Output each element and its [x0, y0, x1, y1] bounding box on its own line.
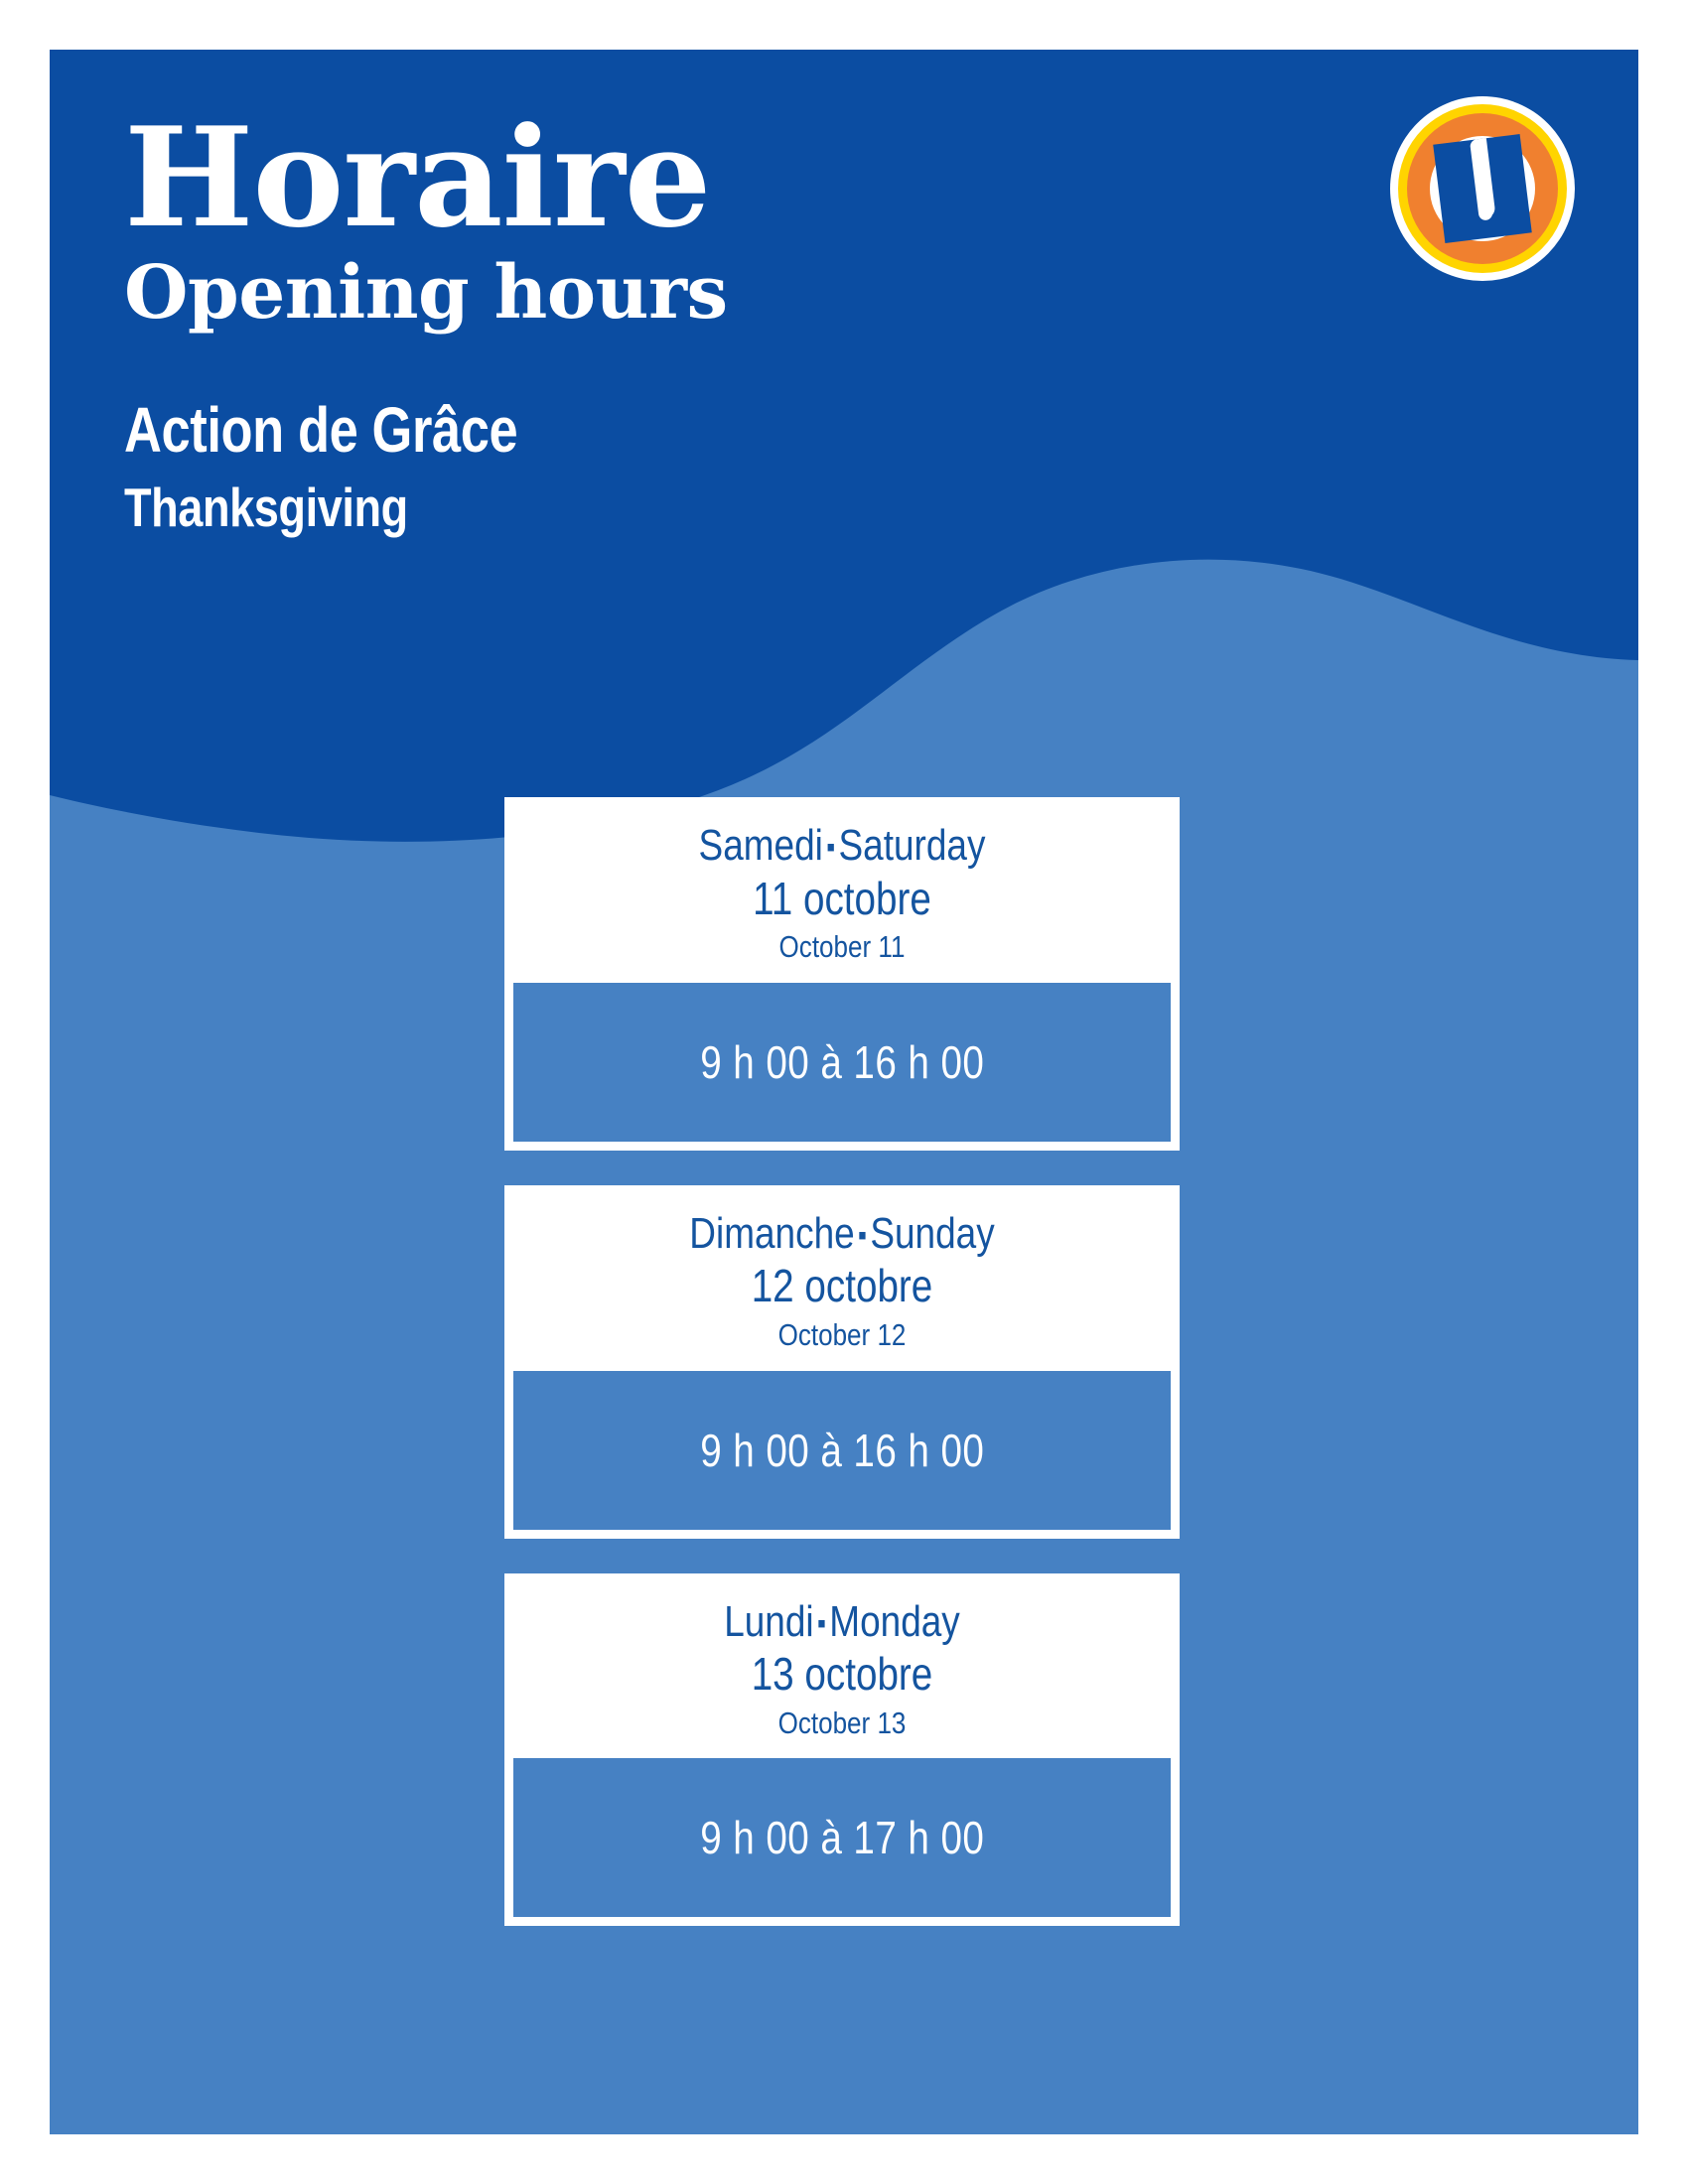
day-name-en: Saturday [839, 821, 986, 870]
day-name-fr: Dimanche [689, 1209, 854, 1258]
day-name-line: Dimanche▪Sunday [575, 1211, 1109, 1258]
date-en: October 12 [575, 1317, 1109, 1353]
page-title-fr: Horaire [124, 109, 1117, 246]
schedule-card: Lundi▪Monday 13 octobre October 13 9 h 0… [504, 1573, 1180, 1927]
separator-bullet-icon: ▪ [814, 1607, 830, 1640]
hours-band-wrapper: 9 h 00 à 17 h 00 [504, 1758, 1180, 1926]
day-name-line: Lundi▪Monday [575, 1599, 1109, 1646]
separator-bullet-icon: ▪ [823, 831, 839, 864]
hours-text: 9 h 00 à 17 h 00 [700, 1811, 984, 1864]
uniprix-logo-icon [1388, 94, 1577, 283]
schedule-card-header: Lundi▪Monday 13 octobre October 13 [504, 1573, 1180, 1759]
separator-bullet-icon: ▪ [855, 1219, 871, 1252]
day-name-en: Sunday [870, 1209, 994, 1258]
schedule-card-header: Samedi▪Saturday 11 octobre October 11 [504, 797, 1180, 983]
hours-band-wrapper: 9 h 00 à 16 h 00 [504, 1371, 1180, 1539]
date-en: October 13 [575, 1706, 1109, 1741]
holiday-name-fr: Action de Grâce [124, 396, 938, 465]
page-title-en: Opening hours [124, 252, 1117, 335]
day-name-line: Samedi▪Saturday [575, 823, 1109, 870]
hours-band: 9 h 00 à 16 h 00 [513, 1371, 1171, 1530]
schedule-card: Dimanche▪Sunday 12 octobre October 12 9 … [504, 1185, 1180, 1539]
day-name-fr: Lundi [724, 1597, 813, 1646]
date-fr: 12 octobre [575, 1261, 1109, 1312]
day-name-en: Monday [829, 1597, 959, 1646]
date-en: October 11 [575, 929, 1109, 965]
header-content: Horaire Opening hours Action de Grâce Th… [124, 109, 1117, 537]
schedule-card-header: Dimanche▪Sunday 12 octobre October 12 [504, 1185, 1180, 1371]
hours-band-wrapper: 9 h 00 à 16 h 00 [504, 983, 1180, 1151]
hours-band: 9 h 00 à 17 h 00 [513, 1758, 1171, 1917]
hours-text: 9 h 00 à 16 h 00 [700, 1035, 984, 1089]
day-name-fr: Samedi [699, 821, 823, 870]
opening-hours-poster: Horaire Opening hours Action de Grâce Th… [50, 50, 1638, 2134]
holiday-name-en: Thanksgiving [124, 478, 938, 537]
schedule-card: Samedi▪Saturday 11 octobre October 11 9 … [504, 797, 1180, 1151]
hours-band: 9 h 00 à 16 h 00 [513, 983, 1171, 1142]
date-fr: 13 octobre [575, 1649, 1109, 1701]
date-fr: 11 octobre [575, 874, 1109, 925]
hours-text: 9 h 00 à 16 h 00 [700, 1424, 984, 1477]
schedule-list: Samedi▪Saturday 11 octobre October 11 9 … [504, 797, 1180, 1926]
